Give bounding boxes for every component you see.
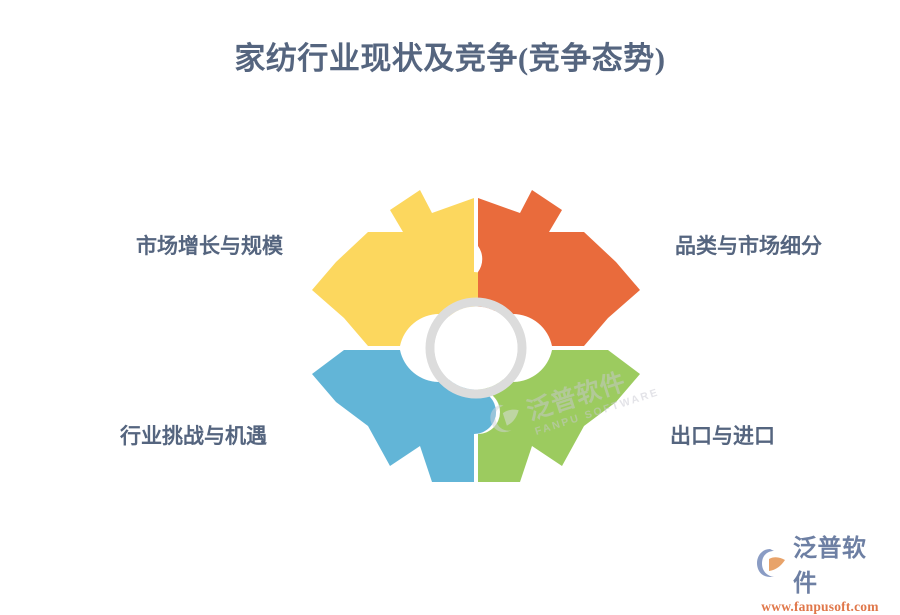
puzzle-graphic (308, 150, 644, 486)
logo-brand-cn: 泛普软件 (793, 528, 884, 598)
piece-label-category-segmentation: 品类与市场细分 (675, 234, 822, 259)
piece-label-market-growth: 市场增长与规模 (136, 234, 283, 259)
piece-label-export-import: 出口与进口 (670, 424, 775, 449)
jigsaw-diagram: 泛普软件 FANPU SOFTWARE (0, 0, 900, 600)
logo-mark-icon (756, 548, 788, 578)
logo-url: www.fanpusoft.com (756, 599, 884, 615)
brand-logo: 泛普软件 www.fanpusoft.com (756, 528, 884, 586)
puzzle-center-hub (435, 307, 518, 390)
piece-label-challenges-opportunities: 行业挑战与机遇 (120, 424, 267, 449)
